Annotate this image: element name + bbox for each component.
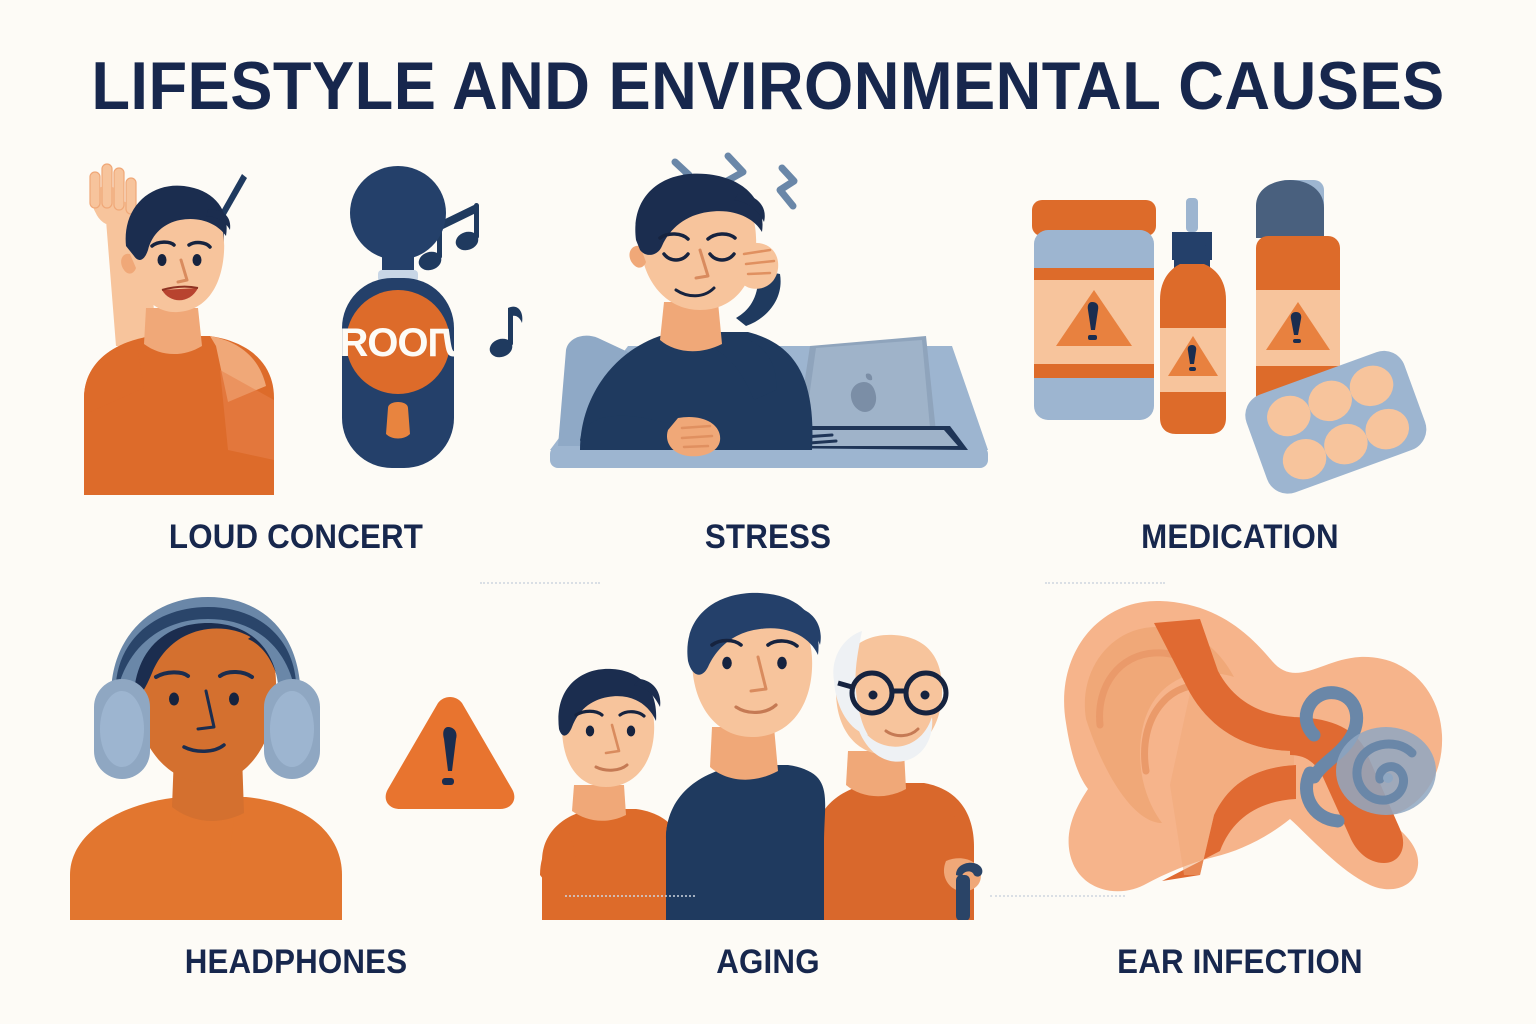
warning-triangle-icon <box>386 697 515 809</box>
cochlea-spiral-icon <box>1336 727 1436 815</box>
page-title: LIFESTYLE AND ENVIRONMENTAL CAUSES <box>54 52 1482 120</box>
panel-label: HEADPHONES <box>79 943 513 982</box>
ear-infection-illustration <box>1004 575 1476 920</box>
elderly-person-icon <box>814 631 982 920</box>
panel-headphones[interactable]: HEADPHONES <box>60 575 532 1000</box>
aging-illustration <box>532 575 1004 920</box>
adult-icon <box>666 593 825 920</box>
medicine-bottle-icon <box>1160 198 1226 434</box>
pill-bottle-icon <box>1032 200 1156 420</box>
panel-stress[interactable]: STRESS <box>532 150 1004 575</box>
svg-text:ЛOOЯ: ЛOOЯ <box>340 321 455 365</box>
loud-concert-illustration: ЛOOЯ <box>60 150 532 495</box>
panel-medication[interactable]: MEDICATION <box>1004 150 1476 575</box>
panel-divider <box>480 582 600 584</box>
panel-aging[interactable]: AGING <box>532 575 1004 1000</box>
sound-level-meter-icon: ЛOOЯ <box>340 166 455 468</box>
headphones-illustration <box>60 575 532 920</box>
panel-ear-infection[interactable]: EAR INFECTION <box>1004 575 1476 1000</box>
panel-label: EAR INFECTION <box>1023 943 1457 982</box>
panel-divider <box>990 895 1125 897</box>
panel-grid: ЛOOЯ LOUD CONCERT <box>60 150 1476 1000</box>
infographic-poster: LIFESTYLE AND ENVIRONMENTAL CAUSES <box>0 0 1536 1024</box>
walking-cane-icon <box>956 863 982 920</box>
panel-divider <box>1045 582 1165 584</box>
panel-label: AGING <box>551 943 985 982</box>
panel-divider <box>565 895 695 897</box>
panel-loud-concert[interactable]: ЛOOЯ LOUD CONCERT <box>60 150 532 575</box>
child-icon <box>540 669 684 920</box>
panel-label: MEDICATION <box>1023 518 1457 557</box>
medication-illustration <box>1004 150 1476 495</box>
panel-label: STRESS <box>551 518 985 557</box>
stress-illustration <box>532 150 1004 495</box>
panel-label: LOUD CONCERT <box>79 518 513 557</box>
